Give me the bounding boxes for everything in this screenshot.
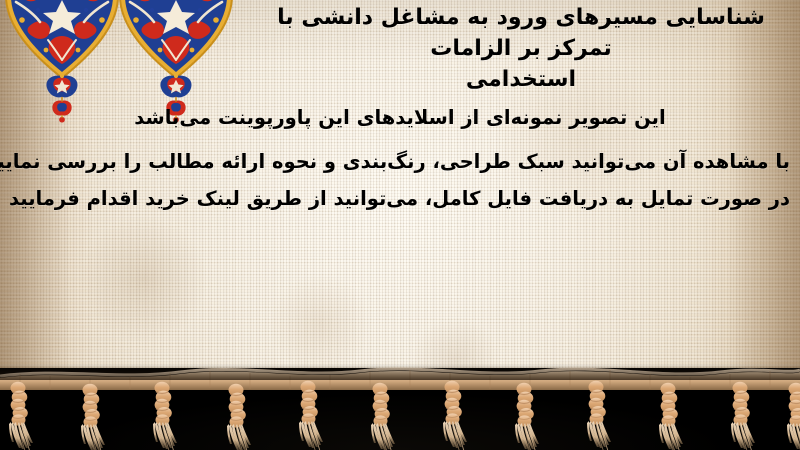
tassel-row: [9, 381, 800, 450]
tassel: [659, 383, 683, 450]
tassel: [227, 384, 251, 450]
body-line-1: این تصویر نمونه‌ای از اسلایدهای این پاور…: [10, 108, 790, 128]
tassel: [371, 383, 395, 450]
slide-body: این تصویر نمونه‌ای از اسلایدهای این پاور…: [10, 108, 790, 229]
tassel: [787, 383, 800, 450]
tassel: [443, 381, 467, 450]
body-line-3: در صورت تمایل به دریافت فایل کامل، می‌تو…: [10, 189, 790, 209]
tassel: [731, 382, 755, 450]
page-title-line-1: شناسایی مسیرهای ورود به مشاغل دانشی با ت…: [250, 2, 792, 64]
tassel: [9, 382, 33, 450]
tassel: [153, 382, 177, 450]
carpet-fringe-tassels: [0, 356, 800, 450]
tassel: [587, 381, 611, 450]
fringe-drop-shadow: [0, 364, 800, 380]
body-line-2: با مشاهده آن می‌توانید سبک طراحی، رنگ‌بن…: [10, 152, 790, 172]
tassel: [299, 381, 323, 450]
slide-canvas: شناسایی مسیرهای ورود به مشاغل دانشی با ت…: [0, 0, 800, 450]
tassel: [81, 384, 105, 450]
page-title: شناسایی مسیرهای ورود به مشاغل دانشی با ت…: [250, 2, 792, 96]
page-title-line-2: استخدامی: [250, 64, 792, 95]
tassel: [515, 383, 539, 450]
